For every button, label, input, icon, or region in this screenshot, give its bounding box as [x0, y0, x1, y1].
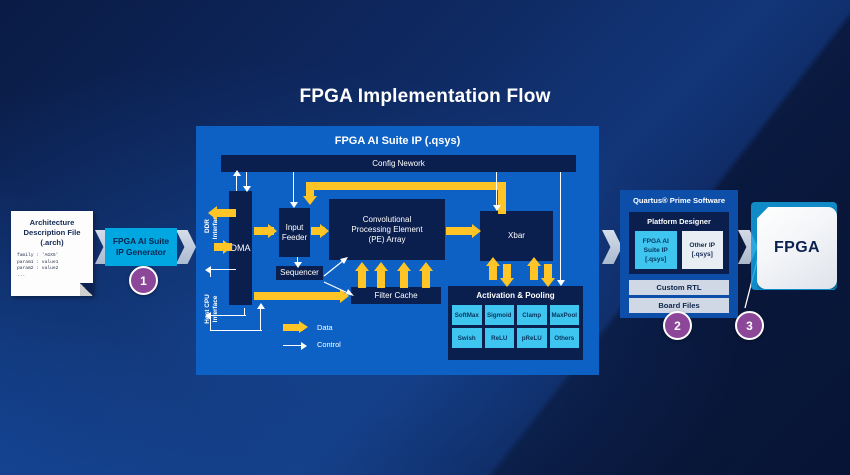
flow-chevron-2	[176, 230, 196, 264]
host-cpu-interface-label-line2: Interface	[212, 296, 219, 323]
pe-array-label-line1: Convolutional	[351, 215, 422, 225]
architecture-description-file-card: Architecture Description File (.arch) fa…	[11, 211, 93, 296]
arch-file-title-line3: (.arch)	[11, 238, 93, 248]
activation-cell-maxpool[interactable]: MaxPool	[550, 305, 580, 325]
filter-cache-up-line-4	[422, 270, 430, 288]
pe-to-xbar-arrowhead	[472, 224, 481, 238]
filter-cache-up-arrowhead-4	[419, 262, 433, 271]
activation-cell-swish[interactable]: Swish	[452, 328, 482, 348]
custom-rtl-block[interactable]: Custom RTL	[629, 280, 729, 295]
config-to-input-feeder-arrowhead	[290, 202, 298, 208]
config-to-activation-arrowhead	[557, 280, 565, 286]
pe-to-xbar-line	[446, 227, 474, 235]
ddr-out-data-line	[216, 209, 236, 217]
config-network-label: Config Nework	[221, 155, 576, 172]
xbar-act-up-line-2	[530, 264, 538, 280]
config-to-dma-arrowhead	[243, 186, 251, 192]
host-cpu-out-arrowhead	[257, 303, 265, 309]
activation-cell-prelu[interactable]: pReLU	[517, 328, 547, 348]
input-feeder-to-pe-arrowhead	[320, 224, 329, 238]
filter-cache-block[interactable]: Filter Cache	[351, 287, 441, 304]
input-feeder-to-sequencer-arrowhead	[294, 262, 302, 268]
activation-cell-softmax[interactable]: SoftMax	[452, 305, 482, 325]
activation-pooling-block: Activation & Pooling SoftMax Sigmoid Cla…	[448, 286, 583, 360]
legend-control-row: Control	[283, 340, 341, 349]
input-feeder-label-line2: Feeder	[282, 233, 307, 243]
data-arrow-icon	[283, 324, 309, 332]
filter-cache-up-line-2	[377, 270, 385, 288]
arch-file-title-line1: Architecture	[11, 218, 93, 228]
page-title: FPGA Implementation Flow	[0, 86, 850, 108]
convolutional-pe-array-block[interactable]: Convolutional Processing Element (PE) Ar…	[329, 199, 445, 260]
step-badge-3: 3	[735, 311, 764, 340]
step-badge-1: 1	[129, 266, 158, 295]
flow-chevron-3	[602, 230, 622, 264]
platform-designer-title: Platform Designer	[629, 212, 729, 226]
pe-array-label-line3: (PE) Array	[351, 235, 422, 245]
xbar-act-up-arrowhead-1	[486, 257, 500, 266]
ip-other-line2: [.qsys]	[689, 250, 715, 259]
generator-label-line2: IP Generator	[113, 247, 169, 258]
input-feeder-label: Input Feeder	[279, 208, 310, 257]
input-feeder-label-line1: Input	[282, 223, 307, 233]
xbar-feedback-horizontal	[306, 182, 506, 190]
sequencer-control-arrows	[320, 254, 364, 298]
xbar-block[interactable]: Xbar	[480, 211, 553, 261]
xbar-label: Xbar	[480, 211, 553, 261]
activation-cell-relu[interactable]: ReLU	[485, 328, 515, 348]
ip-ai-line1: FPGA AI	[643, 237, 669, 246]
quartus-prime-software-panel: Quartus® Prime Software Platform Designe…	[620, 190, 738, 318]
arch-file-title: Architecture Description File (.arch)	[11, 211, 93, 248]
activation-cell-others[interactable]: Others	[550, 328, 580, 348]
host-cpu-out-horizontal	[210, 330, 262, 331]
platform-designer-ip-row: FPGA AI Suite IP [.qsys] Other IP [.qsys…	[629, 226, 729, 269]
activation-pooling-grid: SoftMax Sigmoid Clamp MaxPool Swish ReLU…	[448, 300, 583, 352]
generator-label: FPGA AI Suite IP Generator	[113, 236, 169, 258]
page-fold-shade	[80, 283, 93, 296]
sequencer-block[interactable]: Sequencer	[276, 266, 323, 280]
filter-cache-up-arrowhead-2	[374, 262, 388, 271]
ip-ai-line3: [.qsys]	[643, 255, 669, 264]
config-to-input-feeder-line	[293, 172, 294, 202]
dma-to-input-feeder-arrowhead	[268, 224, 277, 238]
host-cpu-in-horizontal	[210, 269, 236, 270]
ddr-in-data-arrowhead	[223, 240, 232, 254]
legend-data-label: Data	[317, 323, 333, 332]
fpga-chip: FPGA	[757, 207, 837, 289]
quartus-title: Quartus® Prime Software	[620, 190, 738, 205]
fpga-ai-suite-ip-panel: FPGA AI Suite IP (.qsys) Config Nework D…	[196, 126, 599, 375]
config-to-activation-line	[560, 172, 561, 282]
filter-cache-up-line-3	[400, 270, 408, 288]
config-to-xbar-line	[496, 172, 497, 205]
platform-designer-block: Platform Designer FPGA AI Suite IP [.qsy…	[629, 212, 729, 274]
diagram-canvas: FPGA Implementation Flow Architecture De…	[0, 0, 850, 475]
xbar-act-up-line-1	[489, 264, 497, 280]
host-cpu-out-vertical	[260, 308, 261, 331]
xbar-act-down-arrowhead-2	[541, 278, 555, 287]
control-arrow-icon	[283, 341, 309, 349]
ip-ai-line2: Suite IP	[643, 246, 669, 255]
filter-cache-label: Filter Cache	[351, 287, 441, 304]
xbar-act-up-arrowhead-2	[527, 257, 541, 266]
ip-other-line1: Other IP	[689, 241, 715, 250]
generator-label-line1: FPGA AI Suite	[113, 236, 169, 247]
legend-control-label: Control	[317, 340, 341, 349]
arch-file-title-line2: Description File	[11, 228, 93, 238]
ddr-out-data-arrowhead	[208, 206, 217, 220]
activation-pooling-title: Activation & Pooling	[448, 286, 583, 300]
dma-control-up-arrowhead	[233, 170, 241, 176]
activation-cell-sigmoid[interactable]: Sigmoid	[485, 305, 515, 325]
fpga-ai-suite-ip-generator-block[interactable]: FPGA AI Suite IP Generator	[105, 228, 177, 266]
host-cpu-feedback-horizontal	[210, 315, 246, 316]
legend-data-row: Data	[283, 323, 333, 332]
config-to-xbar-arrowhead	[493, 205, 501, 211]
dma-control-up-line	[236, 174, 237, 191]
config-to-dma-line	[246, 172, 247, 187]
xbar-feedback-arrowhead	[303, 196, 317, 205]
fpga-ai-suite-ip-qsys-block[interactable]: FPGA AI Suite IP [.qsys]	[635, 231, 677, 269]
host-cpu-feedback-arrowhead	[205, 312, 211, 320]
ddr-interface-label-line1: DDR	[204, 219, 211, 233]
config-network-block[interactable]: Config Nework	[221, 155, 576, 172]
sequencer-label: Sequencer	[276, 266, 323, 280]
step-badge-2: 2	[663, 311, 692, 340]
input-feeder-block[interactable]: Input Feeder	[279, 208, 310, 257]
xbar-act-down-arrowhead-1	[500, 278, 514, 287]
pe-array-label-line2: Processing Element	[351, 225, 422, 235]
activation-cell-clamp[interactable]: Clamp	[517, 305, 547, 325]
ip-panel-title: FPGA AI Suite IP (.qsys)	[196, 126, 599, 147]
other-ip-qsys-block[interactable]: Other IP [.qsys]	[682, 231, 724, 269]
host-cpu-feedback-vertical	[244, 308, 245, 316]
filter-cache-up-arrowhead-3	[397, 262, 411, 271]
host-cpu-interface-label: Host CPU Interface	[204, 285, 220, 333]
arch-file-code-snippet: family : 'AGX5' param1 : value1 param2 :…	[17, 253, 93, 279]
pe-array-label: Convolutional Processing Element (PE) Ar…	[329, 199, 445, 260]
